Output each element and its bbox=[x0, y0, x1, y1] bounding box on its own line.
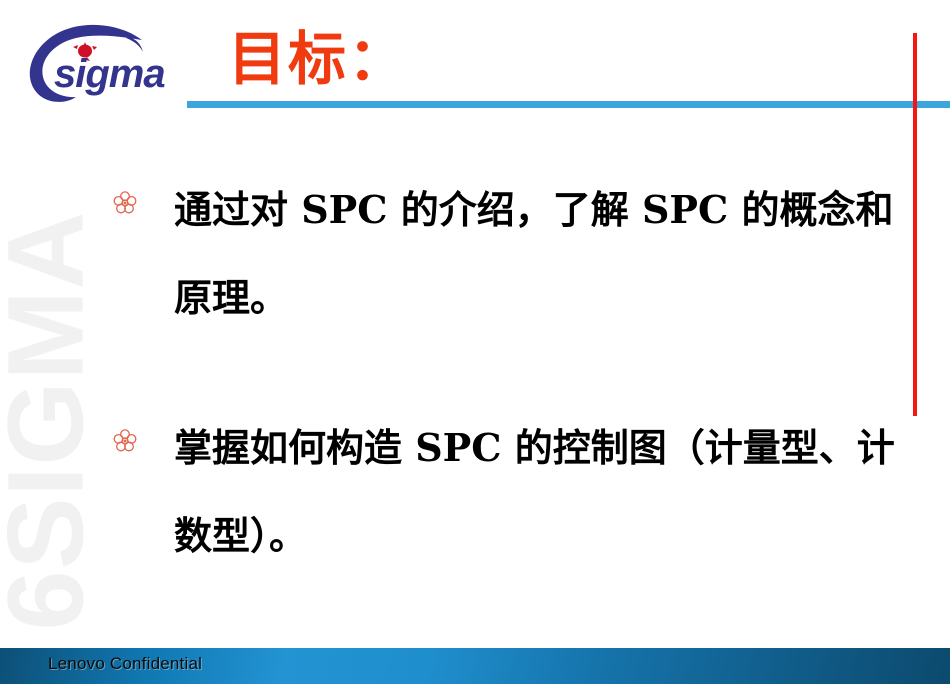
list-item: 掌握如何构造 SPC 的控制图（计量型、计数型）。 bbox=[112, 404, 902, 580]
sigma-logo-graphic: sigma bbox=[14, 24, 184, 102]
flower-bullet-icon bbox=[112, 166, 142, 216]
list-item-label: 掌握如何构造 SPC 的控制图（计量型、计数型）。 bbox=[174, 404, 902, 580]
bullet-list: 通过对 SPC 的介绍，了解 SPC 的概念和原理。 掌握如何构造 SPC 的控 bbox=[112, 166, 902, 580]
page-title: 目标： bbox=[228, 22, 408, 96]
blue-divider-line bbox=[187, 101, 950, 108]
list-item: 通过对 SPC 的介绍，了解 SPC 的概念和原理。 bbox=[112, 166, 902, 342]
footer-confidentiality-label: Lenovo Confidential bbox=[48, 654, 202, 674]
sigma-logo: sigma bbox=[14, 24, 184, 102]
list-item-label: 通过对 SPC 的介绍，了解 SPC 的概念和原理。 bbox=[174, 166, 902, 342]
flower-bullet-icon bbox=[112, 404, 142, 454]
sigma-watermark: 6SIGMA bbox=[0, 191, 103, 651]
red-vertical-line bbox=[913, 33, 917, 416]
logo-wordmark: sigma bbox=[54, 52, 165, 96]
presentation-slide: 6SIGMA sigma 目标： bbox=[0, 0, 950, 684]
